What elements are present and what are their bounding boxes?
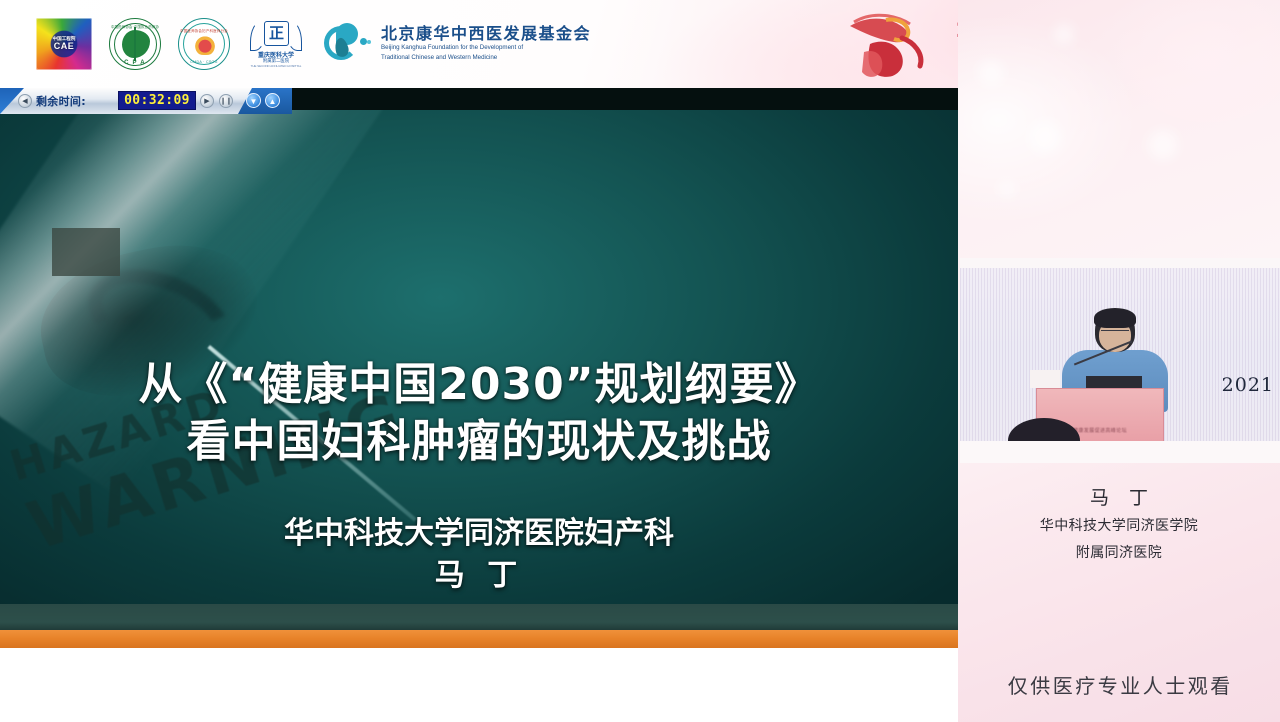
cae-logo: 中国工程院 CAE: [36, 18, 92, 70]
cpa-logo-staff: [134, 27, 136, 61]
medical-professional-disclaimer: 仅供医疗专业人士观看: [958, 670, 1280, 699]
overlay-gray-box: [52, 228, 120, 276]
presentation-slide: HAZARD WARNING 从《“健康中国2030”规划纲要》 看中国妇科肿瘤…: [0, 110, 958, 604]
video-side-board: [1030, 370, 1060, 388]
slide-speaker-name: 马 丁: [0, 550, 958, 594]
countdown-timer: 00:32:09: [118, 91, 196, 110]
bokeh-dot: [1148, 130, 1178, 160]
screen-share-region: ◀ 剩余时间: 00:32:09 ▶ ❙❙ ▼ ▲ HAZARD WARNING…: [0, 88, 958, 648]
university-logo: 正 重庆医科大学 附属第二医院 THE SECOND AFFILIATED HO…: [247, 17, 305, 71]
bokeh-dot: [1054, 24, 1074, 44]
panel-org-line-2: 附属同济医院: [958, 542, 1280, 562]
kanghua-mark-icon: [322, 22, 374, 66]
video-speaker-glasses: [1101, 330, 1129, 337]
kanghua-foundation-logo: 北京康华中西医发展基金会 Beijing Kanghua Foundation …: [322, 22, 591, 66]
forum-calligraphy-icon: [840, 8, 950, 82]
kanghua-name-en-1: Beijing Kanghua Foundation for the Devel…: [381, 44, 591, 53]
bokeh-dot: [978, 60, 1004, 86]
remaining-time-label: 剩余时间:: [36, 93, 86, 109]
slide-affiliation: 华中科技大学同济医院妇产科: [0, 508, 958, 552]
slide-title-line-1: 从《“健康中国2030”规划纲要》: [0, 348, 958, 412]
kanghua-name-cn: 北京康华中西医发展基金会: [381, 25, 591, 43]
player-toolbar[interactable]: ◀ 剩余时间: 00:32:09 ▶ ❙❙ ▼ ▲: [0, 88, 292, 114]
speaker-video-feed[interactable]: 2021 健康发展促进高峰论坛: [960, 258, 1280, 463]
university-logo-badge: 正: [264, 21, 289, 46]
cmda-logo-label: CMDA · CSOG: [179, 60, 229, 64]
slide-title-line-2: 看中国妇科肿瘤的现状及挑战: [0, 405, 958, 469]
video-top-band: [960, 258, 1280, 268]
cmda-logo-emblem: [192, 33, 218, 55]
cpa-logo-abbr: C P A: [110, 60, 160, 66]
scroll-up-button[interactable]: ▲: [265, 93, 280, 108]
cae-logo-abbr: CAE: [54, 41, 75, 51]
speaker-info-panel: 2021 健康发展促进高峰论坛 马 丁 华中科技大学同济医学院 附属同济医院 仅…: [958, 0, 1280, 722]
university-logo-en: THE SECOND AFFILIATED HOSPITAL: [247, 64, 305, 68]
bokeh-dot: [998, 180, 1016, 198]
pause-button[interactable]: ❙❙: [219, 94, 233, 108]
video-bottom-band: [960, 441, 1280, 463]
video-speaker-hair: [1094, 308, 1136, 328]
play-button[interactable]: ▶: [200, 94, 214, 108]
scroll-down-button[interactable]: ▼: [246, 93, 261, 108]
sponsor-logo-row: 中国工程院 CAE 中国药师协会·中国执业药师协会 C P A 中国医师协会妇产…: [36, 10, 591, 78]
cmda-logo: 中国医师协会妇产科医师分会 CMDA · CSOG: [178, 18, 230, 70]
bokeh-dot: [1028, 120, 1062, 154]
cpa-logo: 中国药师协会·中国执业药师协会 C P A: [109, 18, 161, 70]
windows-taskbar[interactable]: [0, 630, 958, 648]
panel-speaker-name: 马 丁: [958, 483, 1280, 510]
video-year-text: 2021: [1222, 374, 1274, 396]
page-bottom-whitespace: [0, 648, 958, 722]
panel-org-line-1: 华中科技大学同济医学院: [958, 515, 1280, 535]
kanghua-name-en-2: Traditional Chinese and Western Medicine: [381, 54, 591, 63]
desktop-background-band: [0, 604, 958, 630]
cpa-logo-map-shape: [122, 30, 150, 58]
back-button[interactable]: ◀: [18, 94, 32, 108]
